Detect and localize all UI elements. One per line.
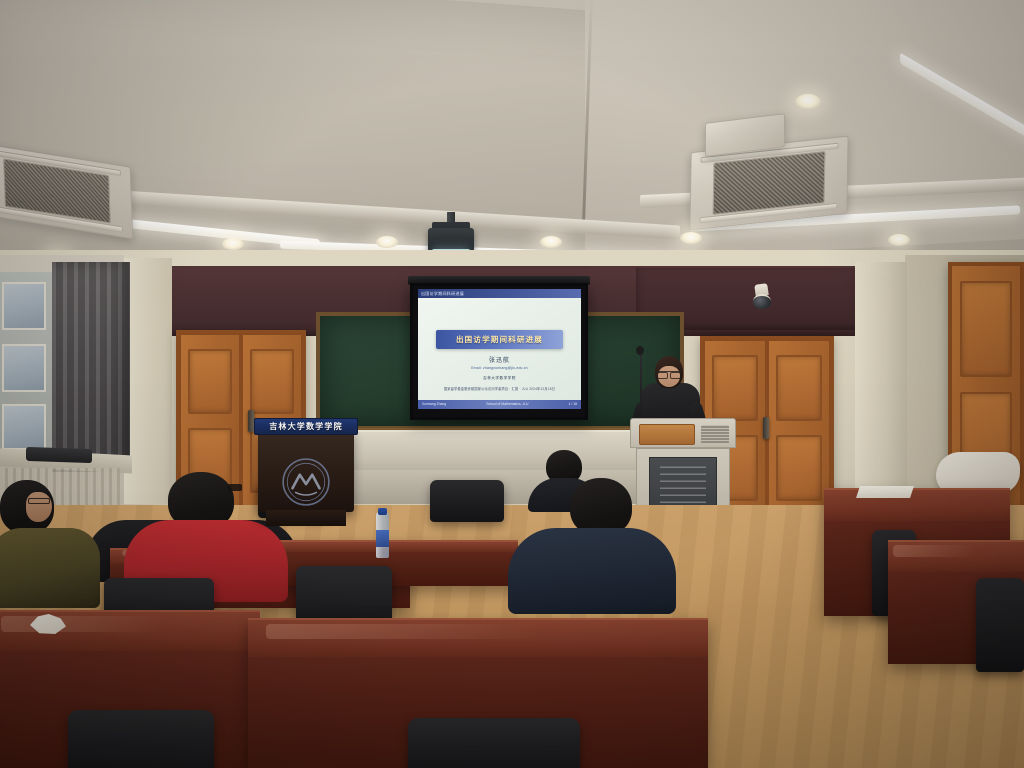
slide-presenter-email: Email: zhangxunhang@jlu.edu.cn — [418, 366, 581, 370]
ceiling-downlight — [376, 236, 398, 248]
slide-title-band: 出国访学期间科研进展 — [436, 330, 563, 349]
person-torso — [0, 528, 100, 608]
window-curtain[interactable] — [52, 262, 130, 472]
window-pane — [2, 344, 46, 392]
slide-footer: Xunhang Zhang School of Mathematics, JLU… — [418, 400, 581, 409]
podium-banner: 吉林大学数学学院 — [254, 418, 358, 435]
rack-vent-pattern — [660, 466, 706, 510]
desk-surface — [268, 540, 518, 552]
ceiling-downlight — [680, 232, 702, 244]
door-panel — [250, 349, 294, 414]
projection-screen: 出国访学期间科研进展 出国访学期间科研进展 张迅航 Email: zhangxu… — [410, 283, 588, 420]
ceiling-downlight — [795, 94, 821, 109]
slide-affiliation: 吉林大学数学学院 — [418, 376, 581, 381]
door-panel — [188, 349, 232, 414]
papers-on-desk[interactable] — [856, 486, 914, 498]
podium-banner-text: 吉林大学数学学院 — [269, 421, 343, 432]
slide-footer-left: Xunhang Zhang — [422, 400, 446, 409]
slide-presenter-name: 张迅航 — [418, 355, 581, 364]
slide-footer-right: 1 / 18 — [569, 400, 577, 409]
chair[interactable] — [408, 718, 580, 768]
chair[interactable] — [68, 710, 214, 768]
ceiling-downlight — [540, 236, 562, 248]
dome-security-camera-icon — [753, 294, 771, 309]
microphone-head-icon — [636, 346, 644, 355]
person-glasses — [228, 484, 242, 491]
lectern-top — [630, 418, 736, 448]
podium: 吉林大学数学学院 — [258, 430, 354, 512]
slide-meta-line: 国家留学基金委资助国家公派访问学者项目 · 汇报 · JLU 2024年12月1… — [418, 386, 581, 391]
person-glasses — [28, 498, 50, 504]
window-pane — [2, 282, 46, 330]
wall-pillar-right — [855, 262, 907, 512]
door-panel — [712, 355, 758, 421]
door-panel — [776, 355, 822, 421]
chair[interactable] — [430, 480, 504, 522]
window-pane — [2, 404, 46, 450]
items-on-windowsill — [26, 447, 92, 463]
ceiling-downlight — [888, 234, 910, 246]
presenter-glasses — [657, 371, 681, 376]
desk-surface — [824, 488, 1010, 521]
lectern-speaker-grille-icon — [701, 425, 729, 444]
desk-sheen — [266, 624, 542, 639]
water-bottle-cap — [378, 508, 387, 515]
desk-sheen — [893, 545, 975, 557]
chair[interactable] — [976, 578, 1024, 672]
lecture-hall-photo: Xunhang Zhang Uqq of Wavelets Base Mod L… — [0, 0, 1024, 768]
jilin-university-emblem-icon — [280, 456, 332, 508]
ceiling-downlight — [222, 238, 244, 250]
slide-footer-center: School of Mathematics, JLU — [486, 400, 528, 409]
slide-header: 出国访学期间科研进展 — [418, 289, 581, 298]
person-torso — [508, 528, 676, 614]
lectern-wood-panel — [639, 424, 695, 445]
slide-title: 出国访学期间科研进展 — [456, 334, 543, 345]
microphone-stand — [640, 352, 642, 420]
water-bottle-label — [376, 530, 389, 547]
desk-sheen — [1, 616, 163, 632]
presentation-slide: 出国访学期间科研进展 出国访学期间科研进展 张迅航 Email: zhangxu… — [418, 289, 581, 409]
ceiling — [0, 0, 1024, 292]
podium-base — [266, 510, 346, 526]
door-panel — [776, 435, 822, 501]
door-handle-icon[interactable] — [763, 417, 769, 439]
door-panel — [960, 281, 1012, 378]
door-leaf-right[interactable] — [767, 339, 831, 517]
